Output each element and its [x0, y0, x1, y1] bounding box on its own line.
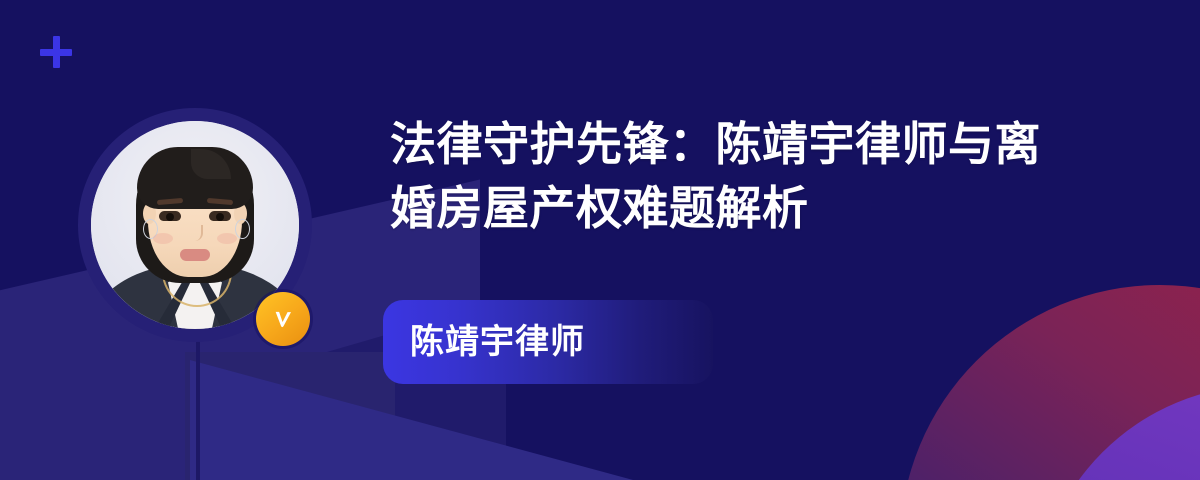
lawyer-name-label: 陈靖宇律师 — [383, 325, 585, 359]
check-v-icon — [270, 306, 296, 332]
decor-triangle-center — [185, 352, 395, 480]
decor-circle-purple — [1035, 385, 1200, 480]
page-title: 法律守护先锋：陈靖宇律师与离婚房屋产权难题解析 — [390, 112, 1050, 240]
headline-block: 法律守护先锋：陈靖宇律师与离婚房屋产权难题解析 — [390, 112, 1050, 240]
lawyer-name-pill[interactable]: 陈靖宇律师 — [383, 300, 713, 384]
verified-badge-icon — [256, 292, 310, 346]
decor-circle-crimson — [900, 285, 1200, 480]
plus-icon — [40, 36, 72, 68]
lawyer-profile-banner: 法律守护先锋：陈靖宇律师与离婚房屋产权难题解析 陈靖宇律师 — [0, 0, 1200, 480]
